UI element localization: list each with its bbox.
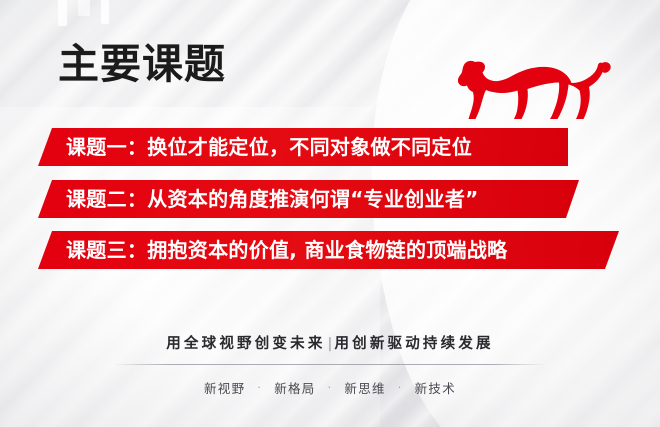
footer-slogan-left: 用全球视野创变未来 [166, 336, 325, 352]
footer-divider [116, 364, 544, 365]
page-title: 主要课题 [58, 44, 226, 85]
footer-slogan: 用全球视野创变未来|用创新驱动持续发展 [0, 332, 660, 353]
slide-canvas: 主要课题 课题一：换位才能定位，不同对象做不同定位 课题二：从资本的角度推演何谓… [0, 0, 660, 427]
lion-icon [452, 44, 612, 130]
top-light-bar-3 [101, 0, 109, 24]
footer-keyword-dot-2: · [319, 381, 342, 394]
footer-keywords: 新视野·新格局·新思维·新技术 [0, 378, 660, 397]
footer-keyword-4: 新技术 [412, 381, 459, 396]
topic-banner-3[interactable]: 课题三：拥抱资本的价值, 商业食物链的顶端战略 [38, 231, 619, 269]
footer-keyword-dot-3: · [389, 381, 412, 394]
topic-banner-3-label: 课题三：拥抱资本的价值, 商业食物链的顶端战略 [66, 231, 507, 269]
top-light-bars [0, 0, 660, 34]
topic-banner-2[interactable]: 课题二：从资本的角度推演何谓“专业创业者” [38, 180, 579, 218]
footer-keyword-3: 新思维 [341, 381, 388, 396]
topic-banner-1-label: 课题一：换位才能定位，不同对象做不同定位 [66, 128, 472, 166]
top-light-bar-2 [78, 0, 90, 16]
footer: 用全球视野创变未来|用创新驱动持续发展 新视野·新格局·新思维·新技术 [0, 332, 660, 397]
topic-banner-2-label: 课题二：从资本的角度推演何谓“专业创业者” [66, 180, 479, 218]
topic-banner-1[interactable]: 课题一：换位才能定位，不同对象做不同定位 [38, 128, 568, 166]
footer-keyword-2: 新格局 [271, 381, 318, 396]
top-light-bar-1 [58, 0, 67, 26]
footer-slogan-right: 用创新驱动持续发展 [334, 336, 493, 352]
footer-keyword-dot-1: · [248, 381, 271, 394]
footer-keyword-1: 新视野 [201, 381, 248, 396]
